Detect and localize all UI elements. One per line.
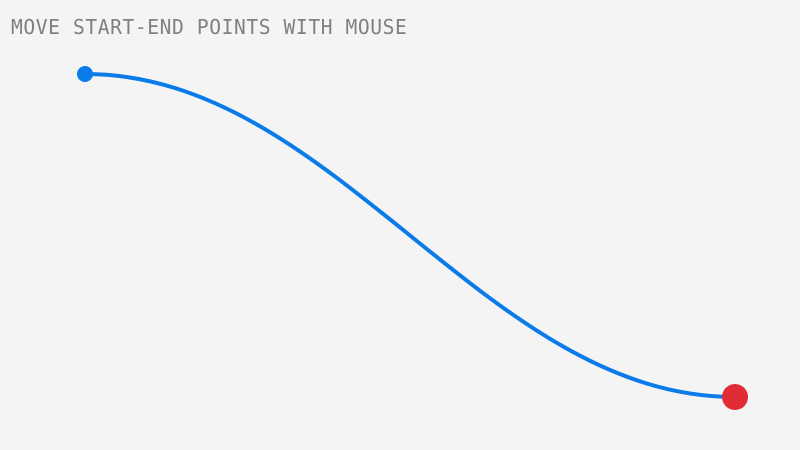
drawing-canvas[interactable]: MOVE START-END POINTS WITH MOUSE (0, 0, 800, 450)
bezier-curve (85, 74, 735, 397)
bezier-scene (0, 0, 800, 450)
start-point-handle[interactable] (77, 66, 93, 82)
demo-canvas-app: MOVE START-END POINTS WITH MOUSE (0, 0, 800, 450)
end-point-handle[interactable] (722, 384, 748, 410)
